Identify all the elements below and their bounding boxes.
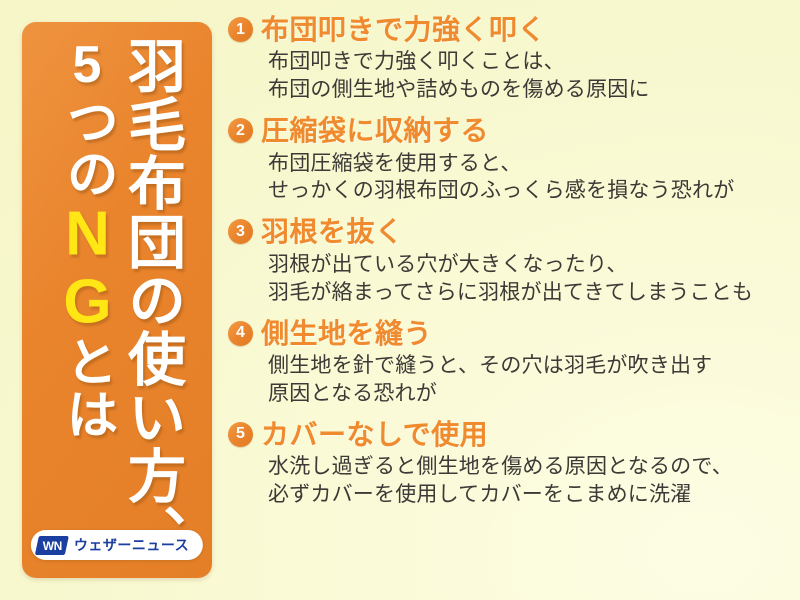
- tip-body: 側生地を針で縫うと、その穴は羽毛が吹き出す原因となる恐れが: [268, 352, 788, 408]
- tip-header: 5カバーなしで使用: [228, 419, 788, 450]
- tip-title: 圧縮袋に収納する: [261, 115, 489, 146]
- tip-header: 1布団叩きで力強く叩く: [228, 14, 788, 45]
- tip-title: 布団叩きで力強く叩く: [261, 14, 546, 45]
- number-badge-icon: 2: [228, 118, 253, 143]
- weathernews-logo[interactable]: WN ウェザーニュース: [31, 530, 203, 560]
- title-sub-suffix: とは: [58, 335, 116, 440]
- tip-body: 布団叩きで力強く叩くことは、布団の側生地や詰めものを傷める原因に: [268, 48, 788, 104]
- tip-item: 1布団叩きで力強く叩く布団叩きで力強く叩くことは、布団の側生地や詰めものを傷める…: [228, 14, 788, 104]
- number-badge-icon: 5: [228, 422, 253, 447]
- tip-item: 5カバーなしで使用水洗し過ぎると側生地を傷める原因となるので、必ずカバーを使用し…: [228, 419, 788, 509]
- tip-body-line: 布団の側生地や詰めものを傷める原因に: [268, 76, 788, 104]
- tip-body-line: 布団叩きで力強く叩くことは、: [268, 48, 788, 76]
- title-sub-prefix: 5つの: [58, 36, 116, 200]
- tip-body-line: 側生地を針で縫うと、その穴は羽毛が吹き出す: [268, 352, 788, 380]
- brand-name-label: ウェザーニュース: [74, 538, 189, 552]
- title-main-vertical: 羽毛布団の使い方、: [122, 36, 180, 506]
- tip-body-line: 布団圧縮袋を使用すると、: [268, 150, 788, 178]
- title-sub-vertical: 5つのNGとは: [56, 36, 118, 506]
- tip-header: 3羽根を抜く: [228, 216, 788, 247]
- tip-body: 羽根が出ている穴が大きくなったり、羽毛が絡まってさらに羽根が出てきてしまうことも: [268, 251, 788, 307]
- tip-body-line: 必ずカバーを使用してカバーをこまめに洗濯: [268, 481, 788, 509]
- tip-body-line: 原因となる恐れが: [268, 380, 788, 408]
- tip-body-line: 羽毛が絡まってさらに羽根が出てきてしまうことも: [268, 279, 788, 307]
- tip-title: カバーなしで使用: [261, 419, 488, 450]
- title-panel: 羽毛布団の使い方、 5つのNGとは WN ウェザーニュース: [22, 22, 212, 578]
- tip-title: 羽根を抜く: [261, 216, 404, 247]
- tip-body-line: 水洗し過ぎると側生地を傷める原因となるので、: [268, 453, 788, 481]
- tip-header: 2圧縮袋に収納する: [228, 115, 788, 146]
- title-ng-highlight: NG: [53, 200, 122, 336]
- tip-item: 4側生地を縫う側生地を針で縫うと、その穴は羽毛が吹き出す原因となる恐れが: [228, 318, 788, 408]
- infographic-root: 羽毛布団の使い方、 5つのNGとは WN ウェザーニュース 1布団叩きで力強く叩…: [0, 0, 800, 600]
- vertical-title-stack: 羽毛布団の使い方、 5つのNGとは: [22, 22, 212, 512]
- wn-logo-icon: WN: [35, 536, 69, 555]
- tip-item: 2圧縮袋に収納する布団圧縮袋を使用すると、せっかくの羽根布団のふっくら感を損なう…: [228, 115, 788, 205]
- tip-body-line: せっかくの羽根布団のふっくら感を損なう恐れが: [268, 177, 788, 205]
- tip-body: 布団圧縮袋を使用すると、せっかくの羽根布団のふっくら感を損なう恐れが: [268, 150, 788, 206]
- tips-list: 1布団叩きで力強く叩く布団叩きで力強く叩くことは、布団の側生地や詰めものを傷める…: [228, 14, 788, 520]
- tip-body: 水洗し過ぎると側生地を傷める原因となるので、必ずカバーを使用してカバーをこまめに…: [268, 453, 788, 509]
- tip-header: 4側生地を縫う: [228, 318, 788, 349]
- wn-logo-text: WN: [42, 539, 61, 551]
- tip-item: 3羽根を抜く羽根が出ている穴が大きくなったり、羽毛が絡まってさらに羽根が出てきて…: [228, 216, 788, 306]
- number-badge-icon: 4: [228, 321, 253, 346]
- tip-body-line: 羽根が出ている穴が大きくなったり、: [268, 251, 788, 279]
- tip-title: 側生地を縫う: [261, 318, 432, 349]
- number-badge-icon: 3: [228, 219, 253, 244]
- number-badge-icon: 1: [228, 17, 253, 42]
